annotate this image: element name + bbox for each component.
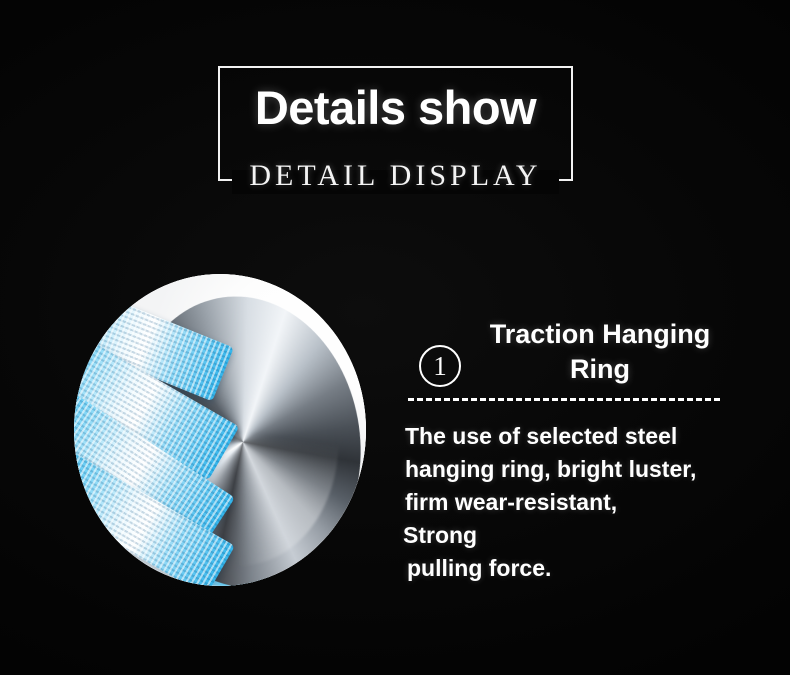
photo-backdrop <box>74 274 366 586</box>
feature-title: Traction Hanging Ring <box>470 317 730 387</box>
feature-divider <box>408 398 720 401</box>
feature-title-line-1: Traction <box>490 319 595 349</box>
feature-body-line-2: hanging ring, bright luster, <box>405 453 775 486</box>
page-subtitle: DETAIL DISPLAY <box>218 161 573 191</box>
detail-display-banner: Details show DETAIL DISPLAY 1 Traction H… <box>0 0 790 675</box>
feature-description: The use of selected steel hanging ring, … <box>405 420 775 585</box>
feature-body-line-1: The use of selected steel <box>405 420 775 453</box>
page-title: Details show <box>218 84 573 131</box>
product-photo <box>74 274 366 586</box>
feature-body-line-3: firm wear-resistant, <box>405 486 775 519</box>
feature-number-badge: 1 <box>419 345 461 387</box>
feature-body-line-4: Strong <box>403 519 775 552</box>
feature-body-line-5: pulling force. <box>407 552 775 585</box>
